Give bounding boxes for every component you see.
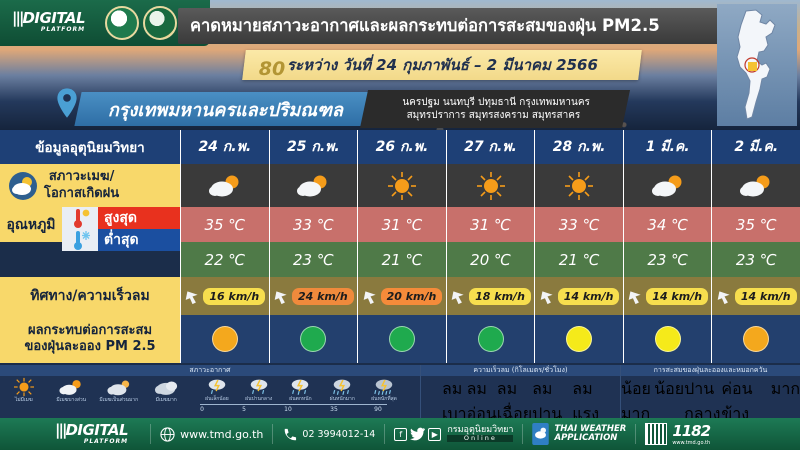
date-range-banner: ระหว่าง วันที่ 24 กุมภาพันธ์ – 2 มีนาคม … bbox=[242, 50, 642, 80]
thermometer-cold-icon bbox=[62, 229, 98, 251]
legend-cloud-caption: มีเมฆเป็นส่วนมาก bbox=[99, 398, 138, 404]
sun-icon bbox=[564, 171, 594, 201]
footer-qr-caption: www.tmd.go.th bbox=[672, 440, 710, 446]
temp-min-cell: 23 ℃ bbox=[269, 242, 358, 277]
rain-icon bbox=[206, 377, 228, 396]
sun-icon bbox=[476, 171, 506, 201]
cloud-sun-icon bbox=[651, 173, 685, 199]
footer-divider bbox=[384, 424, 385, 444]
pm25-status-dot bbox=[212, 326, 238, 352]
legend-bar: สภาวะอากาศ ไม่มีเมฆ มีเมฆบางส่วน มีเมฆเป… bbox=[0, 365, 800, 418]
cloud-sun-icon bbox=[296, 173, 330, 199]
wind-cell: 18 km/h bbox=[446, 277, 535, 315]
footer-divider bbox=[522, 424, 523, 444]
wind-direction-arrow-icon bbox=[450, 288, 467, 305]
date-column-header: 24 ก.พ. bbox=[180, 130, 269, 164]
cloud-sun-icon bbox=[107, 377, 131, 397]
location-pin-icon bbox=[56, 88, 78, 118]
date-column-header: 25 ก.พ. bbox=[269, 130, 358, 164]
legend-rain-tick: 10 bbox=[284, 406, 292, 413]
qr-code-icon bbox=[645, 423, 667, 445]
footer-phone[interactable]: 02 3994012-14 bbox=[282, 427, 375, 442]
logo-brand-text: DIGITAL bbox=[22, 9, 85, 27]
page-footer: |||DIGITAL PLATFORM www.tmd.go.th 02 399… bbox=[0, 418, 800, 450]
pm25-cell bbox=[623, 315, 712, 363]
legend-rain-caption: ฝนเล็กน้อย bbox=[205, 397, 229, 403]
pm25-cell bbox=[446, 315, 535, 363]
sky-cell bbox=[180, 164, 269, 207]
temp-min-cell: 21 ℃ bbox=[357, 242, 446, 277]
temp-min-cell: 20 ℃ bbox=[446, 242, 535, 277]
footer-logo-brand: DIGITAL bbox=[65, 421, 128, 439]
temp-max-cell: 33 ℃ bbox=[534, 207, 623, 242]
wind-speed-chip: 24 km/h bbox=[292, 288, 354, 305]
pm25-cell bbox=[534, 315, 623, 363]
footer-social[interactable]: f ▶ กรมอุตุนิยมวิทยา Online bbox=[394, 426, 513, 442]
temp-max-cell: 34 ℃ bbox=[623, 207, 712, 242]
temperature-label-block: อุณหภูมิ สูงสุด ต่ำสุด bbox=[0, 207, 180, 242]
legend-rain-item: ฝนปานกลาง bbox=[238, 377, 280, 403]
pm25-status-dot bbox=[478, 326, 504, 352]
wind-speed-chip: 14 km/h bbox=[558, 288, 620, 305]
temp-max-cell: 33 ℃ bbox=[269, 207, 358, 242]
cloud-sun-icon bbox=[208, 173, 242, 199]
footer-divider bbox=[635, 424, 636, 444]
twitter-icon[interactable] bbox=[410, 427, 425, 441]
pm25-cell bbox=[711, 315, 800, 363]
sky-cell bbox=[269, 164, 358, 207]
pm25-status-dot bbox=[300, 326, 326, 352]
temp-max-cell: 31 ℃ bbox=[357, 207, 446, 242]
wind-cell: 14 km/h bbox=[623, 277, 712, 315]
temperature-chips: สูงสุด ต่ำสุด bbox=[62, 207, 180, 242]
footer-qr bbox=[645, 423, 667, 445]
temperature-min-chip: ต่ำสุด bbox=[62, 229, 180, 251]
rain-icon bbox=[331, 377, 353, 396]
facebook-icon[interactable]: f bbox=[394, 428, 407, 441]
wind-direction-arrow-icon bbox=[539, 288, 556, 305]
temperature-label: อุณหภูมิ bbox=[0, 207, 62, 242]
cloud-sun-icon bbox=[8, 171, 38, 201]
pm25-cell bbox=[357, 315, 446, 363]
wind-direction-arrow-icon bbox=[273, 288, 290, 305]
sky-label-line-2: โอกาสเกิดฝน bbox=[44, 186, 119, 202]
forecast-table: ข้อมูลอุตุนิยมวิทยา 24 ก.พ. 25 ก.พ. 26 ก… bbox=[0, 130, 800, 365]
wind-cell: 20 km/h bbox=[357, 277, 446, 315]
pm25-status-dot bbox=[566, 326, 592, 352]
wind-speed-chip: 14 km/h bbox=[735, 288, 797, 305]
sky-row-label: สภาวะเมฆ/ โอกาสเกิดฝน bbox=[0, 164, 180, 207]
location-banner: กรุงเทพมหานครและปริมณฑล bbox=[74, 92, 377, 126]
thermometer-hot-icon bbox=[62, 207, 98, 229]
temp-min-cell: 21 ℃ bbox=[534, 242, 623, 277]
sky-cell bbox=[357, 164, 446, 207]
pm25-label-line-1: ผลกระทบต่อการสะสม bbox=[24, 323, 155, 339]
sky-cell bbox=[534, 164, 623, 207]
legend-rain-caption: ฝนหนักมาก bbox=[330, 397, 355, 403]
pm25-status-dot bbox=[743, 326, 769, 352]
footer-logo: |||DIGITAL PLATFORM bbox=[55, 423, 128, 445]
wind-direction-arrow-icon bbox=[362, 288, 379, 305]
app-icon bbox=[532, 423, 549, 445]
legend-cloud-item: มีเมฆมาก bbox=[143, 377, 191, 404]
page-title: คาดหมายสภาวะอากาศและผลกระทบต่อการสะสมของ… bbox=[178, 8, 766, 44]
wind-cell: 14 km/h bbox=[534, 277, 623, 315]
wind-speed-chip: 14 km/h bbox=[646, 288, 708, 305]
legend-rain-tick: 35 bbox=[330, 406, 338, 413]
wind-row: ทิศทาง/ความเร็วลม 16 km/h 24 km/h 20 km/… bbox=[0, 277, 800, 315]
sky-cell bbox=[623, 164, 712, 207]
legend-rain-item: ฝนหนักที่สุด bbox=[363, 377, 405, 403]
wind-row-label: ทิศทาง/ความเร็วลม bbox=[0, 277, 180, 315]
legend-cloud-caption: มีเมฆมาก bbox=[156, 398, 177, 404]
pm25-status-dot bbox=[655, 326, 681, 352]
logo-sub-text: PLATFORM bbox=[12, 27, 85, 33]
pm25-label-line-2: ของฝุ่นละออง PM 2.5 bbox=[24, 339, 155, 355]
youtube-icon[interactable]: ▶ bbox=[428, 428, 441, 441]
sky-cell bbox=[446, 164, 535, 207]
sky-cell bbox=[711, 164, 800, 207]
footer-app[interactable]: THAI WEATHER APPLICATION bbox=[532, 423, 626, 445]
tmd-seal-icon bbox=[143, 6, 177, 40]
pm25-row-label: ผลกระทบต่อการสะสม ของฝุ่นละออง PM 2.5 bbox=[0, 315, 180, 363]
footer-hotline-number: 1182 bbox=[672, 422, 710, 440]
digital-platform-logo: |||DIGITAL PLATFORM bbox=[12, 11, 85, 33]
province-line-1: นครปฐม นนทบุรี ปทุมธานี กรุงเทพมหานคร bbox=[403, 96, 591, 110]
legend-rain-tick: 5 bbox=[242, 406, 246, 413]
rain-icon bbox=[248, 377, 270, 396]
province-line-2: สมุทรปราการ สมุทรสงคราม สมุทรสาคร bbox=[407, 109, 581, 123]
rain-icon bbox=[289, 377, 311, 396]
wind-cell: 24 km/h bbox=[269, 277, 358, 315]
temperature-min-label: ต่ำสุด bbox=[98, 229, 180, 251]
table-header-label: ข้อมูลอุตุนิยมวิทยา bbox=[0, 130, 180, 164]
footer-divider bbox=[272, 424, 273, 444]
sun-icon bbox=[387, 171, 417, 201]
cloud-sun-icon bbox=[739, 173, 773, 199]
legend-rain-tick: 0 bbox=[200, 406, 204, 413]
location-text: กรุงเทพมหานครและปริมณฑล bbox=[108, 95, 343, 124]
date-column-header: 2 มี.ค. bbox=[711, 130, 800, 164]
legend-rain-caption: ฝนปานกลาง bbox=[245, 397, 272, 403]
legend-rain-item: ฝนตกหนัก bbox=[280, 377, 322, 403]
footer-hotline: 1182 www.tmd.go.th bbox=[672, 422, 710, 446]
anniversary-emblem: 80 bbox=[252, 50, 292, 88]
wind-cell: 14 km/h bbox=[711, 277, 800, 315]
cloud-sun-icon bbox=[59, 377, 83, 397]
temp-min-cell: 23 ℃ bbox=[623, 242, 712, 277]
table-header-row: ข้อมูลอุตุนิยมวิทยา 24 ก.พ. 25 ก.พ. 26 ก… bbox=[0, 130, 800, 164]
legend-rain-caption: ฝนหนักที่สุด bbox=[371, 397, 397, 403]
footer-divider bbox=[150, 424, 151, 444]
legend-pm25-section: การสะสมของฝุ่นละอองและหมอกควัน น้อยมาก น… bbox=[620, 365, 800, 418]
footer-website-text: www.tmd.go.th bbox=[180, 428, 263, 441]
date-column-header: 27 ก.พ. bbox=[446, 130, 535, 164]
legend-rain-item: ฝนเล็กน้อย bbox=[196, 377, 238, 403]
temperature-max-row: อุณหภูมิ สูงสุด ต่ำสุด 35 ℃ 33 ℃ 31 ℃ 3 bbox=[0, 207, 800, 242]
royal-seal-icon bbox=[105, 6, 139, 40]
legend-rain-tick: 90 bbox=[374, 406, 382, 413]
legend-rain-caption: ฝนตกหนัก bbox=[289, 397, 311, 403]
date-column-header: 26 ก.พ. bbox=[357, 130, 446, 164]
pm25-status-dot bbox=[389, 326, 415, 352]
sky-condition-row: สภาวะเมฆ/ โอกาสเกิดฝน bbox=[0, 164, 800, 207]
legend-cloud-caption: มีเมฆบางส่วน bbox=[56, 398, 86, 404]
temp-max-cell: 35 ℃ bbox=[711, 207, 800, 242]
globe-icon bbox=[160, 427, 175, 442]
footer-phone-text: 02 3994012-14 bbox=[302, 429, 375, 440]
wind-speed-chip: 20 km/h bbox=[381, 288, 443, 305]
footer-logo-sub: PLATFORM bbox=[55, 439, 128, 445]
sun-icon bbox=[13, 377, 35, 397]
temp-min-cell: 23 ℃ bbox=[711, 242, 800, 277]
temp-max-cell: 31 ℃ bbox=[446, 207, 535, 242]
rain-icon bbox=[373, 377, 395, 396]
legend-wind-section: ความเร็วลม (กิโลเมตร/ชั่วโมง) ลมเบา ลมอ่… bbox=[420, 365, 620, 418]
temperature-max-label: สูงสุด bbox=[98, 207, 180, 229]
temp-max-cell: 35 ℃ bbox=[180, 207, 269, 242]
footer-app-line-2: APPLICATION bbox=[554, 434, 626, 443]
legend-rain-item: ฝนหนักมาก bbox=[321, 377, 363, 403]
pm25-row: ผลกระทบต่อการสะสม ของฝุ่นละออง PM 2.5 bbox=[0, 315, 800, 363]
pm25-cell bbox=[269, 315, 358, 363]
wind-direction-arrow-icon bbox=[184, 288, 201, 305]
footer-social-sub: Online bbox=[447, 435, 513, 442]
phone-icon bbox=[282, 427, 297, 442]
date-column-header: 1 มี.ค. bbox=[623, 130, 712, 164]
thailand-map bbox=[717, 4, 797, 126]
page-title-text: คาดหมายสภาวะอากาศและผลกระทบต่อการสะสมของ… bbox=[190, 13, 660, 39]
footer-website[interactable]: www.tmd.go.th bbox=[160, 427, 263, 442]
pm25-cell bbox=[180, 315, 269, 363]
date-column-header: 28 ก.พ. bbox=[534, 130, 623, 164]
legend-pm25-title: การสะสมของฝุ่นละอองและหมอกควัน bbox=[621, 365, 800, 376]
legend-cloud-caption: ไม่มีเมฆ bbox=[15, 398, 33, 404]
legend-sky-section: สภาวะอากาศ ไม่มีเมฆ มีเมฆบางส่วน มีเมฆเป… bbox=[0, 365, 420, 418]
province-list: นครปฐม นนทบุรี ปทุมธานี กรุงเทพมหานคร สม… bbox=[360, 90, 630, 128]
wind-direction-arrow-icon bbox=[716, 288, 733, 305]
legend-cloud-item: ไม่มีเมฆ bbox=[0, 377, 48, 404]
legend-sky-title: สภาวะอากาศ bbox=[0, 365, 420, 376]
date-range-text: ระหว่าง วันที่ 24 กุมภาพันธ์ – 2 มีนาคม … bbox=[287, 53, 598, 77]
wind-direction-arrow-icon bbox=[627, 288, 644, 305]
page-header: |||DIGITAL PLATFORM คาดหมายสภาวะอากาศและ… bbox=[0, 0, 800, 130]
thailand-map-icon bbox=[726, 7, 788, 123]
wind-speed-chip: 16 km/h bbox=[203, 288, 265, 305]
cloud-icon bbox=[154, 377, 178, 397]
legend-cloud-item: มีเมฆบางส่วน bbox=[48, 377, 96, 404]
wind-speed-chip: 18 km/h bbox=[469, 288, 531, 305]
temperature-max-chip: สูงสุด bbox=[62, 207, 180, 229]
legend-cloud-item: มีเมฆเป็นส่วนมาก bbox=[95, 377, 143, 404]
wind-cell: 16 km/h bbox=[180, 277, 269, 315]
temp-min-cell: 22 ℃ bbox=[180, 242, 269, 277]
legend-wind-title: ความเร็วลม (กิโลเมตร/ชั่วโมง) bbox=[421, 365, 620, 376]
sky-label-line-1: สภาวะเมฆ/ bbox=[44, 169, 119, 185]
